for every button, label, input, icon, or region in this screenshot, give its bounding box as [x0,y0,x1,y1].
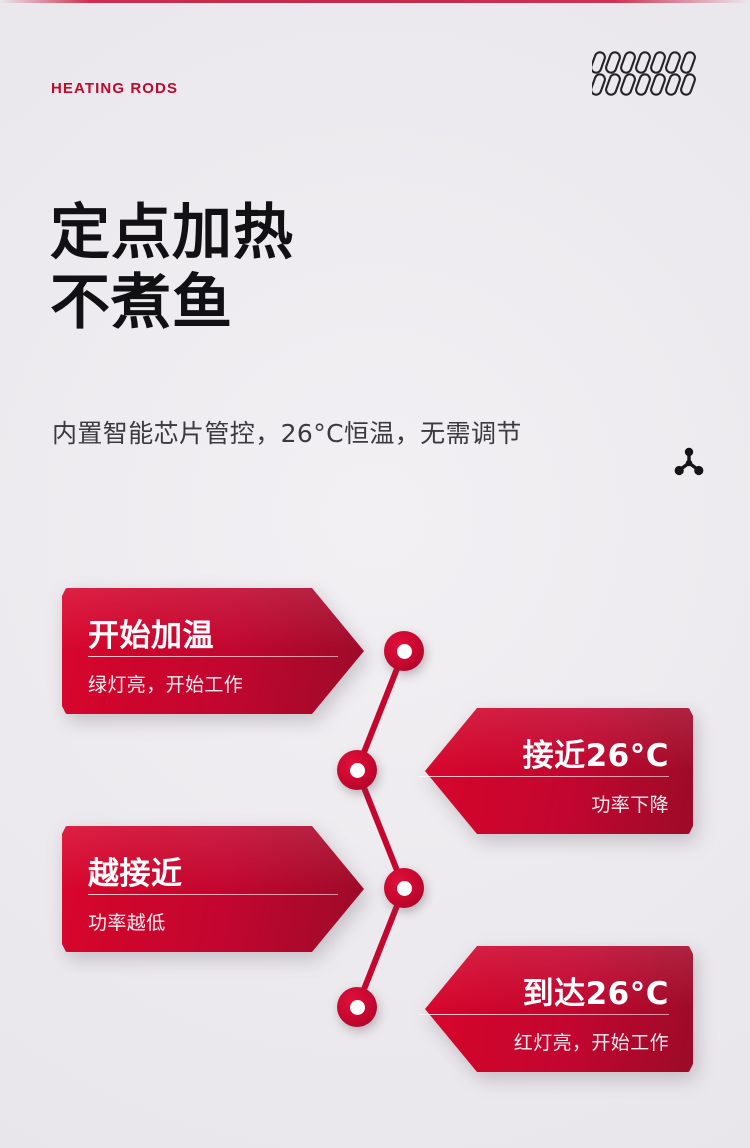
flow-step-divider [88,656,338,657]
headline-line-1: 定点加热 [50,198,294,268]
top-edge-bleed [0,0,750,3]
flow-node-1[interactable] [384,631,424,671]
flow-step-title: 接近26°C [523,730,669,775]
flow-step-subtitle: 功率越低 [88,908,166,935]
flow-step-divider [88,894,338,895]
flow-step-divider [419,776,669,777]
slanted-capsule-pattern-icon [592,50,704,98]
flow-step-subtitle: 绿灯亮，开始工作 [88,670,243,697]
hero-headline: 定点加热 不煮鱼 [50,198,294,338]
flow-step-approaching-26c[interactable]: 接近26°C 功率下降 [425,708,693,834]
molecule-icon [670,444,708,482]
flow-step-title: 越接近 [88,848,183,893]
flow-step-subtitle: 功率下降 [591,790,669,817]
flow-step-title: 到达26°C [523,968,669,1013]
section-eyebrow-label: HEATING RODS [51,80,178,97]
page-root: HEATING RODS [0,0,750,1148]
flow-step-title: 开始加温 [88,610,214,655]
flow-step-closer-lower-power[interactable]: 越接近 功率越低 [62,826,364,952]
flow-step-divider [419,1014,669,1015]
flow-step-start-heating[interactable]: 开始加温 绿灯亮，开始工作 [62,588,364,714]
flow-step-reached-26c[interactable]: 到达26°C 红灯亮，开始工作 [425,946,693,1072]
flow-node-3[interactable] [384,868,424,908]
heating-flow-diagram: 开始加温 绿灯亮，开始工作 接近26°C 功率下降 越接近 功率越低 [0,560,750,1100]
hero-subtitle: 内置智能芯片管控，26°C恒温，无需调节 [52,414,522,450]
flow-node-4[interactable] [337,987,377,1027]
flow-node-2[interactable] [337,750,377,790]
flow-step-subtitle: 红灯亮，开始工作 [514,1028,669,1055]
headline-line-2: 不煮鱼 [50,268,294,338]
